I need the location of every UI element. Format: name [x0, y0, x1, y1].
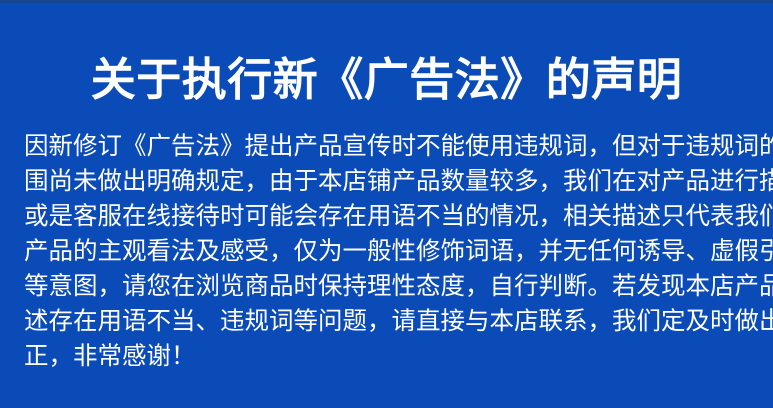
advertising-law-statement-banner: 关于执行新《广告法》的声明 因新修订《广告法》提出产品宣传时不能使用违规词，但对… [0, 0, 773, 408]
statement-line-1: 因新修订《广告法》提出产品宣传时不能使用违规词，但对于违规词的范 [24, 128, 751, 163]
top-edge-rule [0, 0, 773, 3]
statement-line-5: 等意图，请您在浏览商品时保持理性态度，自行判断。若发现本店产品描 [24, 268, 751, 303]
statement-line-4: 产品的主观看法及感受，仅为一般性修饰词语，并无任何诱导、虚假引导 [24, 233, 751, 268]
statement-line-6: 述存在用语不当、违规词等问题，请直接与本店联系，我们定及时做出改 [24, 303, 751, 338]
statement-line-3: 或是客服在线接待时可能会存在用语不当的情况，相关描述只代表我们对 [24, 198, 751, 233]
statement-body: 因新修订《广告法》提出产品宣传时不能使用违规词，但对于违规词的范 围尚未做出明确… [24, 128, 751, 373]
statement-line-2: 围尚未做出明确规定，由于本店铺产品数量较多，我们在对产品进行描述 [24, 163, 751, 198]
statement-line-7: 正，非常感谢！ [24, 338, 751, 373]
page-title: 关于执行新《广告法》的声明 [0, 52, 773, 108]
